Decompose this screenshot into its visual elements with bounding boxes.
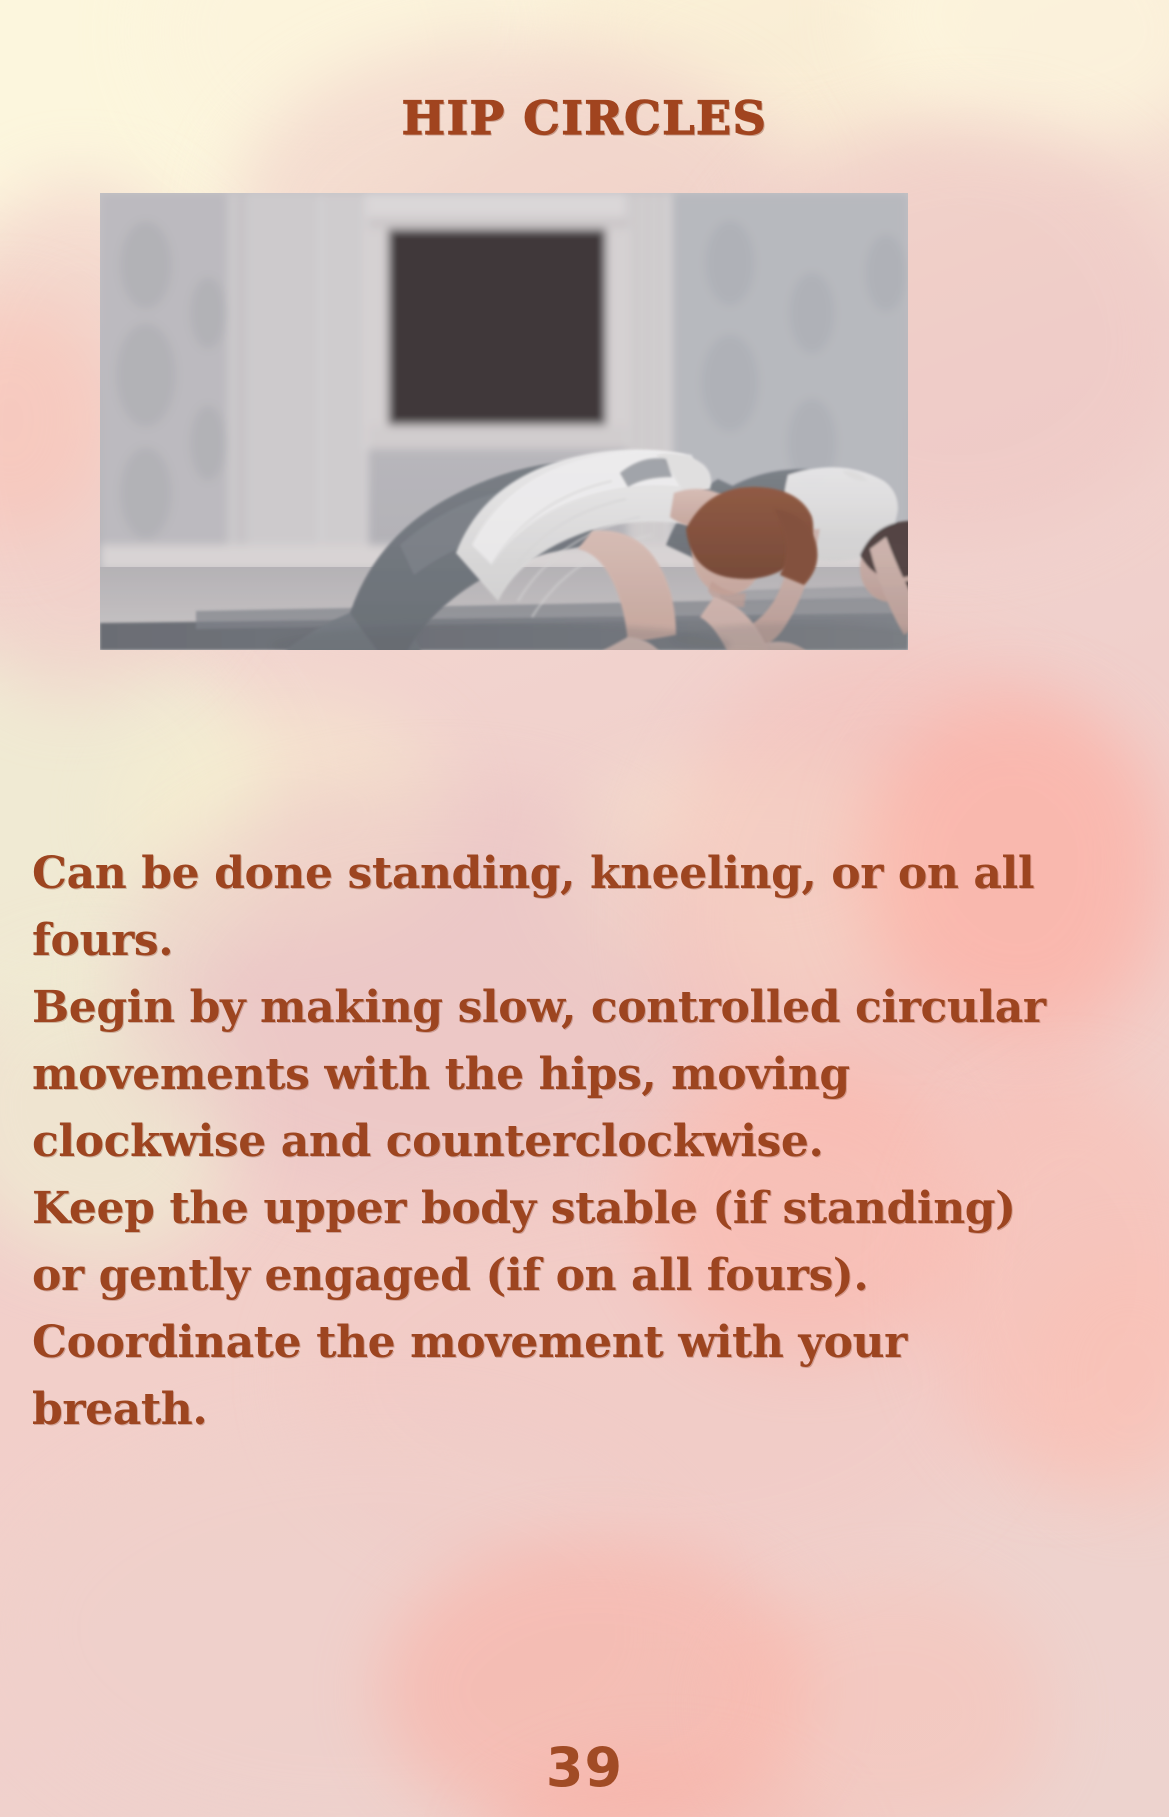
exercise-photo [100,193,908,650]
page-number: 39 [0,1736,1169,1799]
instruction-line: fours. [32,907,1042,974]
exercise-photo-illustration [100,193,908,650]
instruction-line: Begin by making slow, controlled circula… [32,974,1042,1041]
instruction-line: Keep the upper body stable (if standing) [32,1175,1042,1242]
instruction-line: or gently engaged (if on all fours). [32,1242,1042,1309]
instruction-line: Coordinate the movement with your [32,1309,1042,1376]
instruction-text: Can be done standing, kneeling, or on al… [32,840,1042,1443]
instruction-line: breath. [32,1376,1042,1443]
instruction-line: movements with the hips, moving [32,1041,1042,1108]
instruction-line: Can be done standing, kneeling, or on al… [32,840,1042,907]
exercise-page: HIP CIRCLES [0,0,1169,1817]
page-title: HIP CIRCLES [0,91,1169,145]
instruction-line: clockwise and counterclockwise. [32,1108,1042,1175]
coral-wash-blob [1020,1250,1169,1510]
coral-wash-blob [0,300,110,540]
